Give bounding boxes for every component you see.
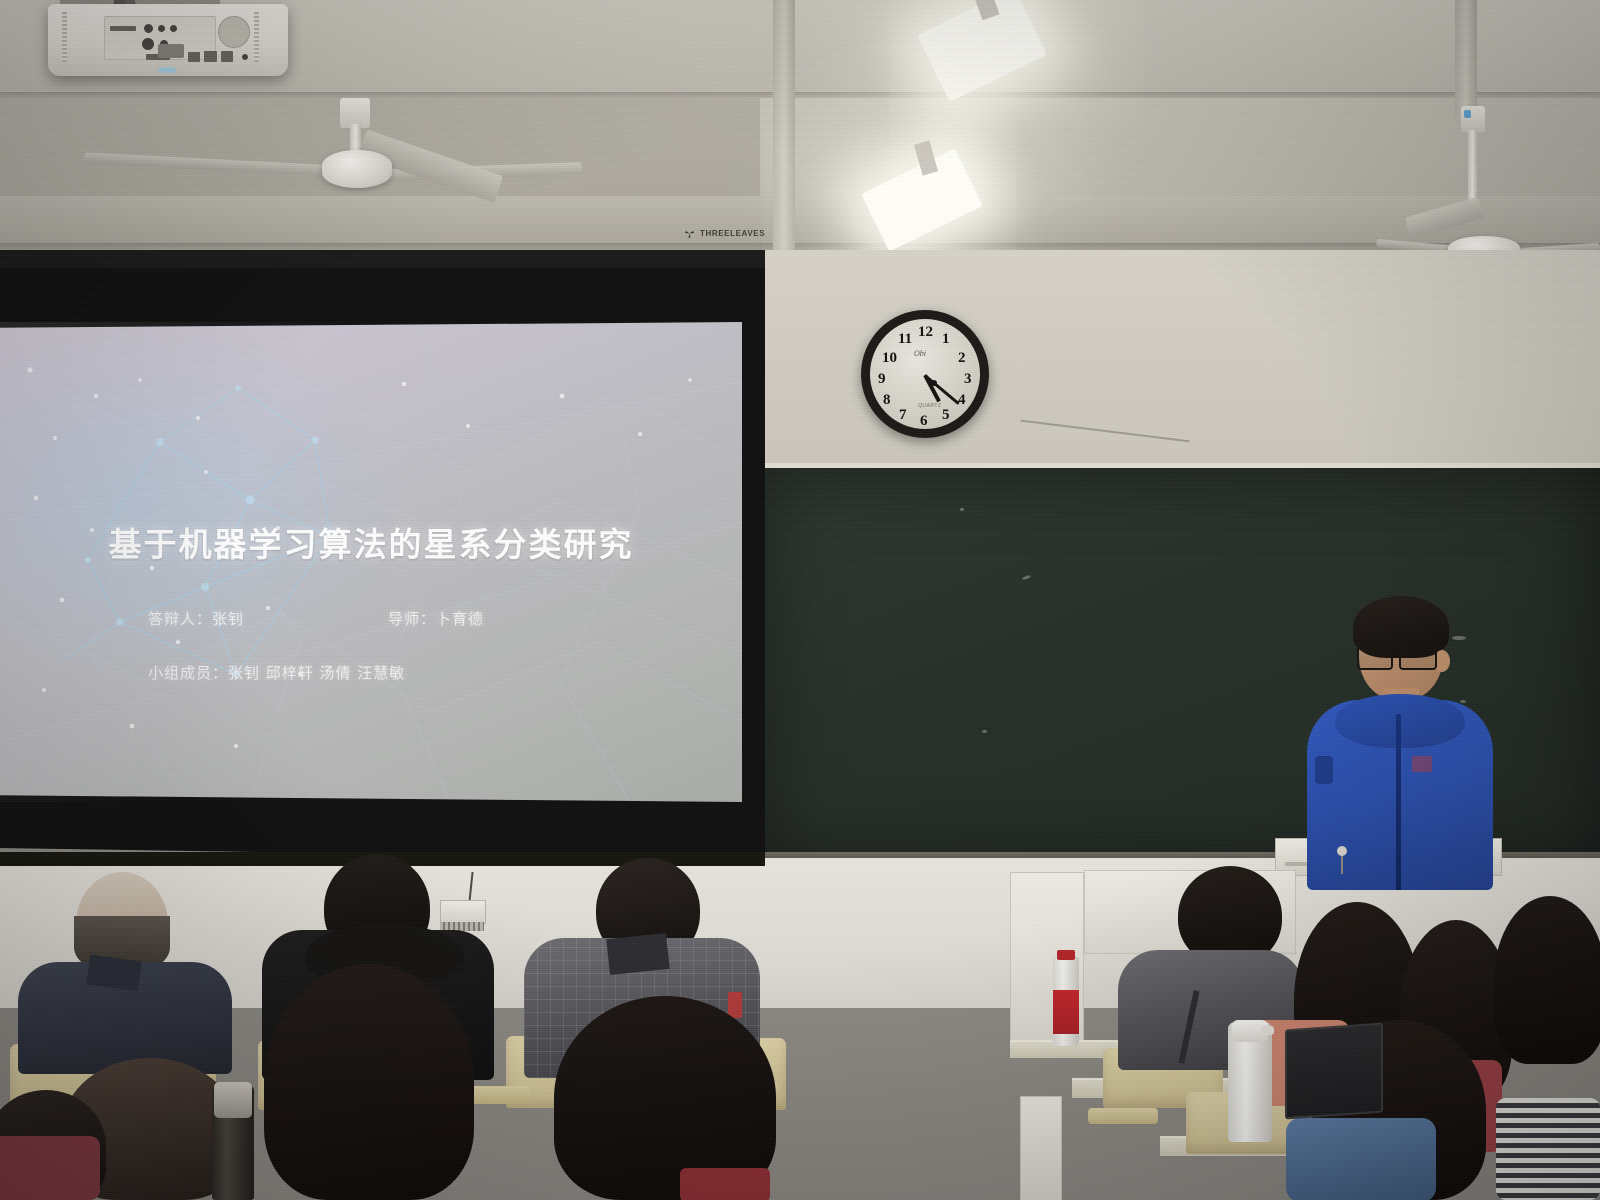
wall-box-body <box>440 900 486 924</box>
soda-bottle-label <box>1053 990 1079 1034</box>
microphone-head-icon <box>1337 846 1347 856</box>
wall-clock: 12 1 2 3 4 5 6 7 8 9 10 11 Obi QUARTZ <box>861 310 989 438</box>
presentation-slide: 基于机器学习算法的星系分类研究 答辩人：张钊 导师：卜育德 小组成员：张钊 邱梓… <box>0 322 742 802</box>
clock-numeral-2: 2 <box>958 351 966 366</box>
clock-numeral-8: 8 <box>883 393 891 408</box>
presenter-chest-logo <box>1412 756 1432 772</box>
glasses-bridge-icon <box>1391 652 1401 655</box>
audience-7-top <box>0 1136 100 1200</box>
clock-numeral-3: 3 <box>964 372 972 387</box>
ceiling-beam-rear <box>0 196 1600 248</box>
chalk-speck-3 <box>982 730 987 733</box>
white-thermos-button <box>1262 1026 1274 1035</box>
fan-right-sticker <box>1464 110 1471 118</box>
fan-brand-plate: THREELEAVES <box>684 228 765 239</box>
clock-numeral-4: 4 <box>958 393 966 408</box>
clock-minute-hand <box>924 374 960 405</box>
soda-bottle-cap <box>1057 950 1075 960</box>
projector-port-hdmi <box>221 51 233 62</box>
ceiling-column-left <box>773 0 795 250</box>
projector-port-d <box>142 38 154 50</box>
projector-indicator <box>242 54 248 60</box>
audience-3-collar <box>606 933 669 975</box>
projector-port-vga <box>110 26 136 31</box>
fan-right-downrod <box>1468 130 1477 202</box>
chalk-speck-2 <box>1022 575 1031 581</box>
laptop <box>1285 1023 1383 1120</box>
clock-numeral-10: 10 <box>882 351 897 366</box>
audience-12-hair <box>1494 896 1600 1064</box>
fan-left-hub <box>322 150 392 188</box>
glasses-left-lens-icon <box>1357 646 1393 670</box>
projector-port-b <box>158 25 165 32</box>
clock-numeral-1: 1 <box>942 332 950 347</box>
lecture-hall-photo: THREELEAVES 12 1 2 3 4 5 6 7 8 9 10 11 O… <box>0 0 1600 1200</box>
clock-sub-text: QUARTZ <box>918 403 941 409</box>
desk-leg-panel <box>1020 1096 1062 1200</box>
clock-numeral-7: 7 <box>899 408 907 423</box>
chalk-speck-5 <box>1452 636 1466 640</box>
projector-power-led <box>158 68 176 72</box>
clock-numeral-12: 12 <box>918 325 933 340</box>
clock-numeral-5: 5 <box>942 408 950 423</box>
seat-arm-3 <box>1088 1108 1158 1124</box>
audience-3-badge <box>728 992 742 1018</box>
projector-port-a <box>144 24 153 33</box>
projector-vent-left <box>62 12 67 62</box>
ceiling-beam-edge <box>0 92 1600 98</box>
slide-advisor-label: 导师：卜育德 <box>388 608 484 629</box>
clock-numeral-11: 11 <box>898 332 912 347</box>
presenter-sleeve-patch <box>1315 756 1333 784</box>
projector-port-usb <box>188 52 200 62</box>
slide-team-label: 小组成员：张钊 邱梓轩 汤倩 汪慧敏 <box>148 662 405 683</box>
fan-brand-text: THREELEAVES <box>700 229 765 238</box>
projector-port-c <box>170 25 177 32</box>
clock-numeral-6: 6 <box>920 414 928 429</box>
audience-5-hair <box>264 964 474 1200</box>
projector-vent-right <box>254 12 259 62</box>
dark-tumbler-lid <box>214 1082 252 1118</box>
slide-presenter-label: 答辩人：张钊 <box>148 608 244 629</box>
audience-6-scarf <box>680 1168 770 1200</box>
audience-11-denim <box>1286 1118 1436 1200</box>
chalk-speck-1 <box>960 508 964 511</box>
clock-face: 12 1 2 3 4 5 6 7 8 9 10 11 Obi QUARTZ <box>870 319 980 429</box>
projector-foot <box>158 44 184 58</box>
presenter-zipper <box>1396 714 1401 890</box>
slide-title: 基于机器学习算法的星系分类研究 <box>0 518 742 566</box>
ceiling-column-right <box>1455 0 1477 120</box>
threeleaves-logo-icon <box>684 228 695 239</box>
projector-port-lan <box>204 51 217 62</box>
clock-center-pin <box>931 380 937 386</box>
ceiling-projector <box>48 4 288 76</box>
audience-12-striped-top <box>1496 1098 1600 1200</box>
clock-numeral-9: 9 <box>878 372 886 387</box>
clock-brand-text: Obi <box>914 349 926 358</box>
projection-screen-roller <box>0 250 765 268</box>
chalk-speck-4 <box>1460 700 1466 703</box>
projector-lens-dial <box>218 16 250 48</box>
glasses-right-lens-icon <box>1399 646 1437 670</box>
